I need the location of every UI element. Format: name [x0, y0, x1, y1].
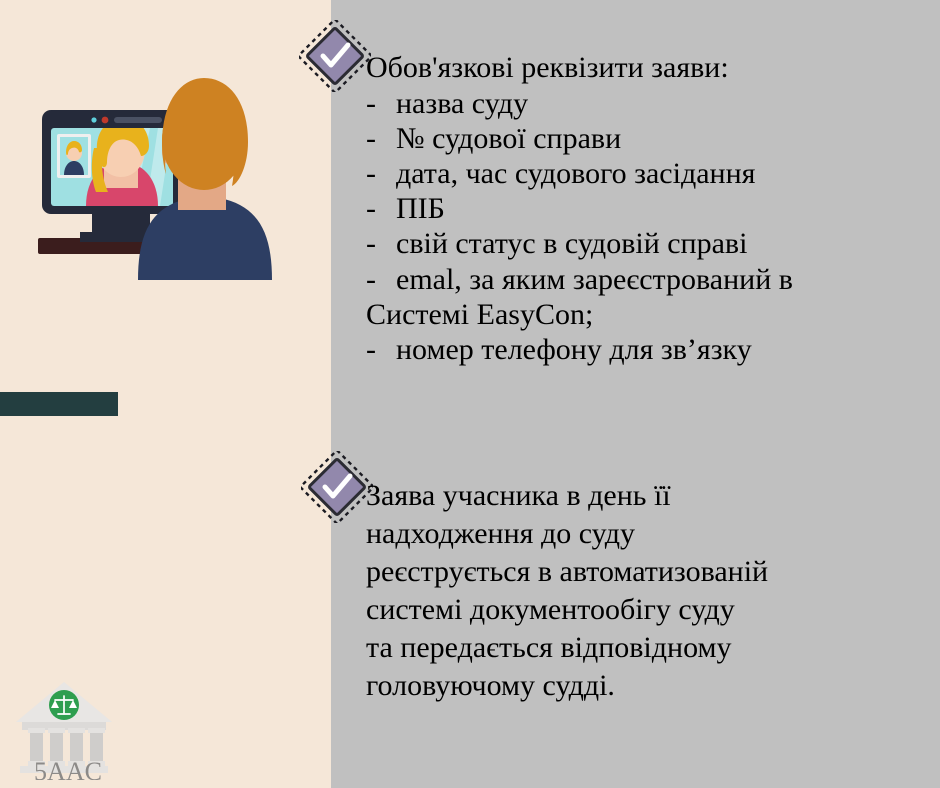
slide-canvas: Обов'язкові реквізити заяви: -назва суду…: [0, 0, 940, 788]
paragraph-line: Заява учасника в день її: [366, 477, 926, 515]
bullet-dash: -: [366, 86, 396, 121]
list-item-label: назва суду: [396, 87, 528, 120]
list-item: -дата, час судового засідання: [366, 156, 926, 191]
requisites-list: -назва суду -№ судової справи -дата, час…: [366, 86, 926, 367]
paragraph-line: надходження до суду: [366, 515, 926, 553]
bullet-dash: -: [366, 262, 396, 297]
list-item: -ПІБ: [366, 191, 926, 226]
person-at-computer-illustration: [30, 48, 292, 280]
logo-5aac: 5AAC: [12, 668, 124, 780]
list-item-label: emal, за яким зареєстрований в: [396, 263, 793, 296]
bullet-dash: -: [366, 332, 396, 367]
list-item-label: номер телефону для зв’язку: [396, 333, 752, 366]
paragraph-line: системі документообігу суду: [366, 591, 926, 629]
list-item: -свій статус в судовій справі: [366, 226, 926, 261]
list-item-label: ПІБ: [396, 192, 445, 225]
logo-wordmark: 5AAC: [34, 757, 102, 780]
list-item: -emal, за яким зареєстрований в: [366, 262, 926, 297]
list-item: -номер телефону для зв’язку: [366, 332, 926, 367]
list-item-label: дата, час судового засідання: [396, 157, 755, 190]
bullet-dash: -: [366, 191, 396, 226]
bullet-dash: -: [366, 156, 396, 191]
list-item-label: № судової справи: [396, 122, 621, 155]
paragraph-line: та передається відповідному: [366, 629, 926, 667]
requisites-text-block: Обов'язкові реквізити заяви: -назва суду…: [366, 50, 926, 367]
registration-text-block: Заява учасника в день її надходження до …: [366, 477, 926, 706]
bullet-dash: -: [366, 121, 396, 156]
list-item: -назва суду: [366, 86, 926, 121]
checkmark-diamond-icon: [301, 451, 373, 523]
bullet-dash: -: [366, 226, 396, 261]
accent-bar: [0, 392, 118, 416]
requisites-heading: Обов'язкові реквізити заяви:: [366, 50, 926, 85]
paragraph-line: головуючому судді.: [366, 667, 926, 705]
list-item-label: свій статус в судовій справі: [396, 227, 747, 260]
list-item: -№ судової справи: [366, 121, 926, 156]
paragraph-line: реєструється в автоматизованій: [366, 553, 926, 591]
list-item-continuation: Системі EasyCon;: [366, 297, 926, 332]
checkmark-diamond-icon: [299, 20, 371, 92]
